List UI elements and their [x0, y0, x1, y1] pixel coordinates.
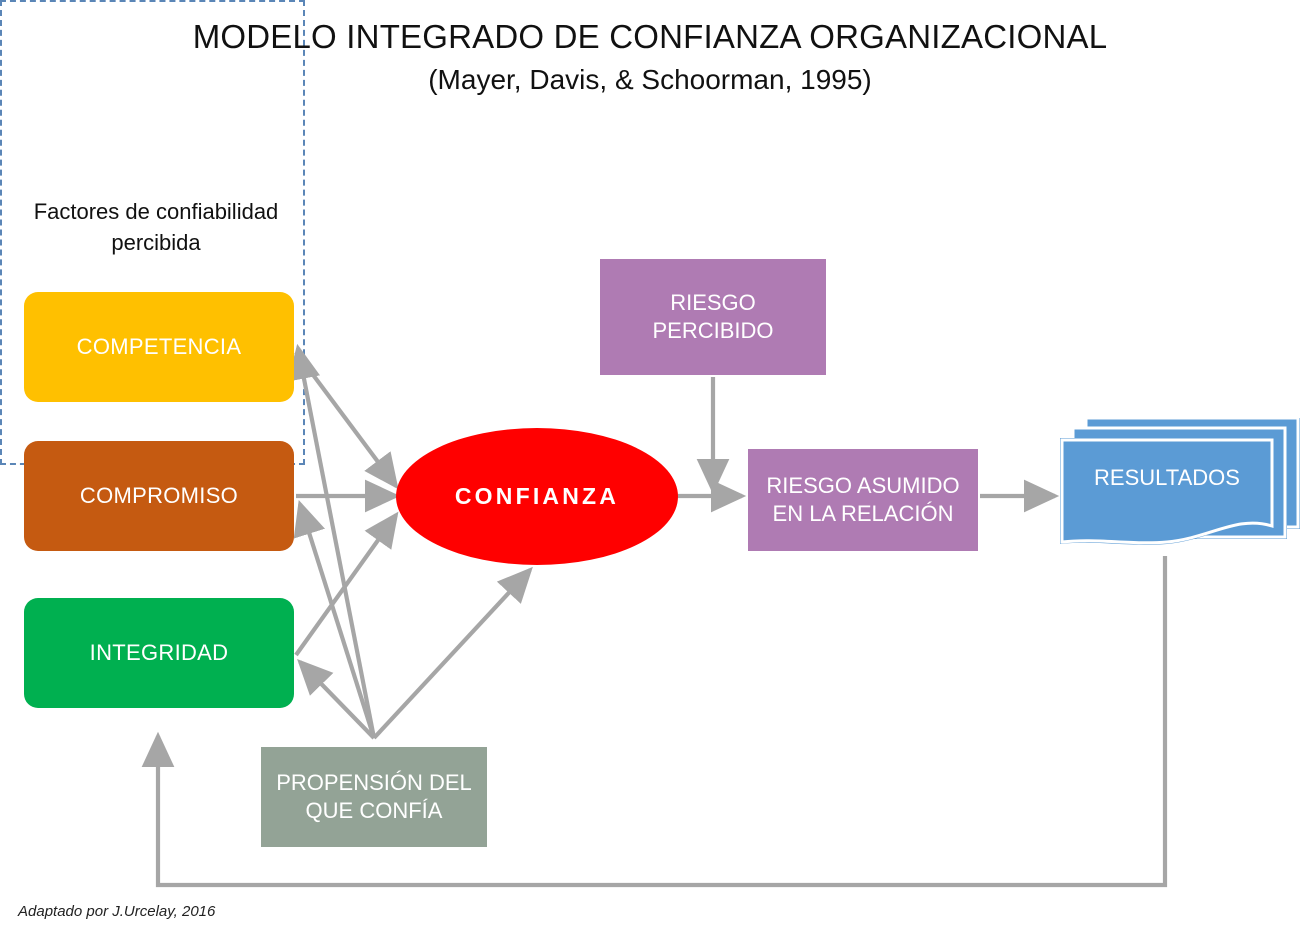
node-confianza-label: CONFIANZA	[455, 483, 619, 510]
node-resultados-label-wrap: RESULTADOS	[1060, 414, 1274, 542]
node-propension[interactable]: PROPENSIÓN DEL QUE CONFÍA	[261, 747, 487, 847]
footnote: Adaptado por J.Urcelay, 2016	[18, 903, 215, 920]
factor-competencia[interactable]: COMPETENCIA	[24, 292, 294, 402]
group-label: Factores de confiabilidad percibida	[8, 196, 304, 258]
node-riesgo-percibido[interactable]: RIESGO PERCIBIDO	[600, 259, 826, 375]
factor-compromiso[interactable]: COMPROMISO	[24, 441, 294, 551]
factor-integridad-label: INTEGRIDAD	[90, 640, 229, 666]
factor-compromiso-label: COMPROMISO	[80, 483, 238, 509]
factor-integridad[interactable]: INTEGRIDAD	[24, 598, 294, 708]
page-title: MODELO INTEGRADO DE CONFIANZA ORGANIZACI…	[0, 18, 1300, 57]
node-resultados-label: RESULTADOS	[1094, 465, 1240, 491]
node-propension-label: PROPENSIÓN DEL QUE CONFÍA	[276, 769, 472, 825]
node-resultados[interactable]: RESULTADOS	[1060, 414, 1300, 559]
factor-competencia-label: COMPETENCIA	[77, 334, 242, 360]
node-confianza[interactable]: CONFIANZA	[396, 428, 678, 565]
node-riesgo-percibido-label: RIESGO PERCIBIDO	[652, 289, 773, 345]
node-riesgo-asumido[interactable]: RIESGO ASUMIDO EN LA RELACIÓN	[748, 449, 978, 551]
diagram-canvas: MODELO INTEGRADO DE CONFIANZA ORGANIZACI…	[0, 0, 1300, 939]
node-riesgo-asumido-label: RIESGO ASUMIDO EN LA RELACIÓN	[766, 472, 959, 528]
page-subtitle: (Mayer, Davis, & Schoorman, 1995)	[0, 63, 1300, 97]
